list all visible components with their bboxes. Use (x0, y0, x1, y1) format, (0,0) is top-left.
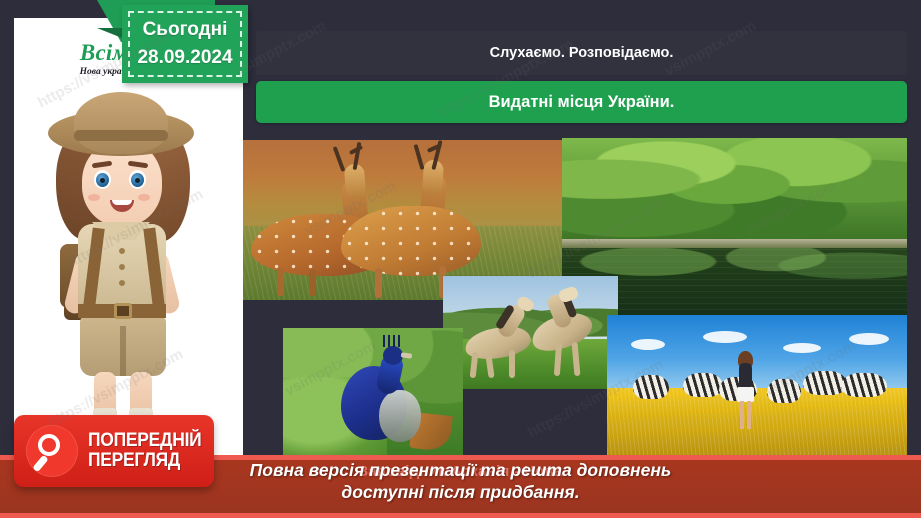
girl-shorts (80, 316, 166, 376)
girl-pupil-left (100, 178, 105, 183)
peacock-crest (383, 335, 401, 347)
presentation-slide: Всім.pptx Нова українська школа Сьогодні… (0, 0, 921, 518)
girl-shirt-button (119, 248, 125, 254)
girl-cheek-right (138, 194, 150, 201)
girl-shirt-button (119, 280, 125, 286)
date-badge-label: Сьогодні (143, 16, 228, 44)
today-date-badge: Сьогодні 28.09.2024 (122, 5, 248, 83)
magnifier-icon (26, 425, 78, 477)
deer-leg (309, 270, 316, 296)
magnifier-ring (38, 434, 60, 456)
girl-pupil-right (135, 178, 140, 183)
girl-cheek-left (88, 194, 100, 201)
photo-peacock (283, 328, 463, 458)
photo-zebras (607, 315, 907, 455)
preview-badge-line2: ПЕРЕГЛЯД (88, 451, 201, 471)
lake-trees (562, 138, 907, 241)
zebra (767, 379, 801, 403)
preview-badge[interactable]: ПОПЕРЕДНІЙ ПЕРЕГЛЯД (14, 415, 214, 487)
deer-leg (375, 268, 382, 298)
girl-belt-buckle (114, 303, 132, 319)
deer-body-right (341, 206, 481, 276)
horse-leg (509, 350, 515, 378)
zebra-person-skirt (737, 387, 754, 402)
safari-girl-illustration (26, 96, 216, 436)
peacock-breast (379, 390, 421, 442)
girl-hat-crown (74, 92, 168, 154)
zebra-person-legs (740, 401, 751, 429)
zebra (841, 373, 887, 397)
zebra-cloud (631, 339, 665, 350)
zebra-cloud (849, 333, 889, 345)
zebra-person-top (739, 363, 752, 389)
girl-hat-band (74, 130, 168, 141)
zebra (683, 373, 723, 397)
lake-bank (562, 239, 907, 248)
zebra-cloud (703, 331, 747, 343)
preview-badge-text: ПОПЕРЕДНІЙ ПЕРЕГЛЯД (88, 431, 211, 471)
magnifier-handle (32, 455, 48, 473)
zebra-cloud (783, 343, 821, 353)
girl-shirt-button (119, 264, 125, 270)
deer-spots (341, 206, 481, 276)
date-badge-value: 28.09.2024 (137, 44, 232, 72)
zebra (633, 375, 669, 399)
deer-leg (277, 268, 284, 296)
photo-horses (443, 276, 618, 389)
preview-badge-line1: ПОПЕРЕДНІЙ (88, 431, 201, 451)
